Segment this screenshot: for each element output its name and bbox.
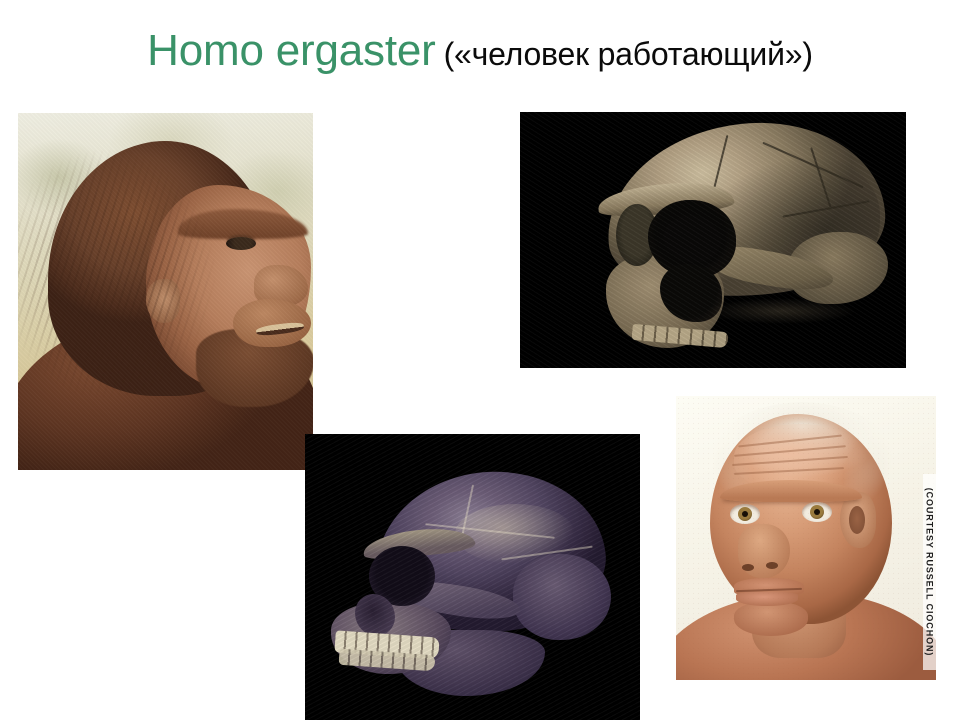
painting-grain-texture bbox=[18, 113, 313, 470]
bust-reconstruction-photo: (COURTESY RUSSELL CIOCHON) bbox=[676, 396, 936, 680]
slide-canvas: Homo ergaster(«человек работающий») bbox=[0, 0, 960, 720]
photo-credit-text: (COURTESY RUSSELL CIOCHON) bbox=[925, 488, 935, 657]
skull-bone-texture bbox=[305, 434, 640, 720]
photo-credit-watermark: (COURTESY RUSSELL CIOCHON) bbox=[923, 474, 936, 670]
bust-skin-texture bbox=[676, 396, 936, 680]
dark-skull-photo bbox=[305, 434, 640, 720]
title-species-name: Homo ergaster bbox=[147, 26, 435, 75]
cranium-bone-texture bbox=[520, 112, 906, 368]
fossil-cranium-photo bbox=[520, 112, 906, 368]
title-translation: («человек работающий») bbox=[444, 36, 813, 72]
artistic-reconstruction-painting bbox=[18, 113, 313, 470]
page-title: Homo ergaster(«человек работающий») bbox=[0, 26, 960, 76]
